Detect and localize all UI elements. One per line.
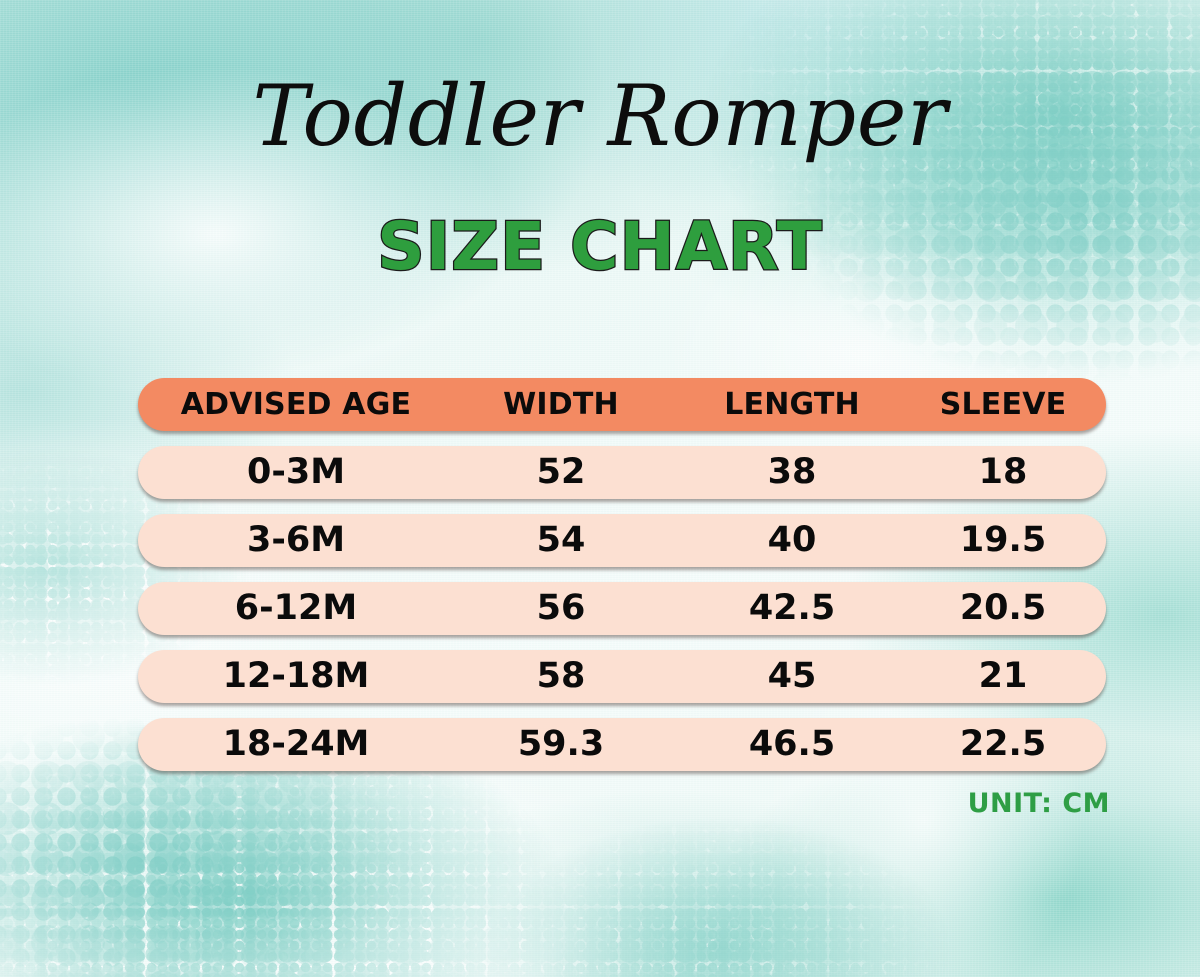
column-header-length: LENGTH	[676, 390, 908, 420]
cell-length: 45	[676, 659, 908, 694]
page-title: Toddler Romper	[0, 74, 1200, 158]
cell-sleeve: 20.5	[908, 591, 1098, 626]
cell-width: 59.3	[446, 727, 676, 762]
cell-length: 46.5	[676, 727, 908, 762]
table-row: 0-3M 52 38 18	[138, 446, 1106, 499]
cell-sleeve: 22.5	[908, 727, 1098, 762]
cell-length: 38	[676, 455, 908, 490]
unit-note: UNIT: CM	[0, 788, 1110, 819]
table-row: 3-6M 54 40 19.5	[138, 514, 1106, 567]
cell-width: 56	[446, 591, 676, 626]
cell-advised-age: 3-6M	[146, 523, 446, 558]
column-header-advised-age: ADVISED AGE	[146, 390, 446, 420]
cell-length: 42.5	[676, 591, 908, 626]
column-header-width: WIDTH	[446, 390, 676, 420]
table-header-row: ADVISED AGE WIDTH LENGTH SLEEVE	[138, 378, 1106, 431]
cell-advised-age: 12-18M	[146, 659, 446, 694]
cell-length: 40	[676, 523, 908, 558]
cell-advised-age: 0-3M	[146, 455, 446, 490]
cell-width: 54	[446, 523, 676, 558]
cell-sleeve: 18	[908, 455, 1098, 490]
cell-width: 52	[446, 455, 676, 490]
cell-advised-age: 6-12M	[146, 591, 446, 626]
size-chart-poster: Toddler Romper SIZE CHART ADVISED AGE WI…	[0, 0, 1200, 977]
cell-advised-age: 18-24M	[146, 727, 446, 762]
cell-sleeve: 21	[908, 659, 1098, 694]
cell-sleeve: 19.5	[908, 523, 1098, 558]
page-subtitle: SIZE CHART	[0, 214, 1200, 280]
cell-width: 58	[446, 659, 676, 694]
table-row: 18-24M 59.3 46.5 22.5	[138, 718, 1106, 771]
column-header-sleeve: SLEEVE	[908, 390, 1098, 420]
table-row: 12-18M 58 45 21	[138, 650, 1106, 703]
table-row: 6-12M 56 42.5 20.5	[138, 582, 1106, 635]
size-chart-table: ADVISED AGE WIDTH LENGTH SLEEVE 0-3M 52 …	[138, 378, 1106, 771]
